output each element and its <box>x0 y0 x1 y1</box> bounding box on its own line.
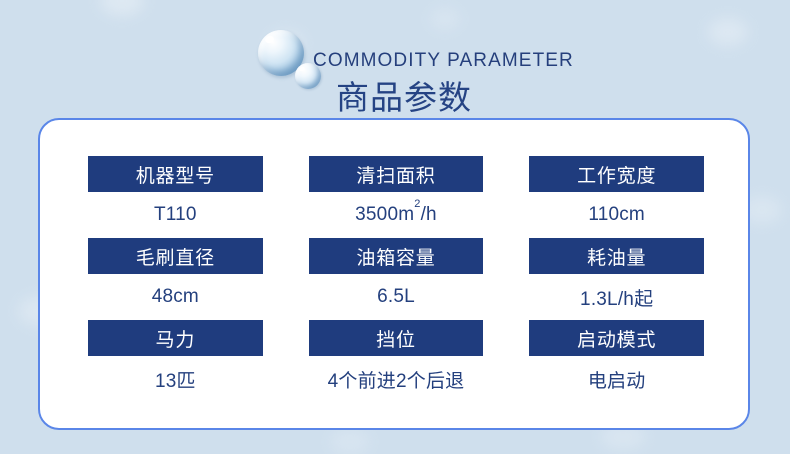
background-blob <box>330 430 370 454</box>
spec-cell: 耗油量 1.3L/h起 <box>529 238 704 320</box>
spec-label: 毛刷直径 <box>88 238 263 274</box>
spec-value: 3500m2/h <box>355 192 437 238</box>
spec-value: 110cm <box>588 192 645 238</box>
spec-cell: 马力 13匹 <box>88 320 263 402</box>
spec-cell: 机器型号 T110 <box>88 156 263 238</box>
spec-cell: 清扫面积 3500m2/h <box>309 156 484 238</box>
spec-label: 挡位 <box>309 320 484 356</box>
spec-cell: 启动模式 电启动 <box>529 320 704 402</box>
spec-value-base: 3500m <box>355 204 414 226</box>
spec-label: 机器型号 <box>88 156 263 192</box>
spec-value-tail: /h <box>421 204 437 226</box>
spec-value: 6.5L <box>377 274 415 320</box>
spec-grid: 机器型号 T110 清扫面积 3500m2/h 工作宽度 110cm 毛刷直径 … <box>88 156 704 402</box>
title-chinese: 商品参数 <box>336 71 472 119</box>
spec-label: 油箱容量 <box>309 238 484 274</box>
banner-header: COMMODITY PARAMETER 商品参数 <box>0 14 790 106</box>
spec-value: 48cm <box>152 274 199 320</box>
spec-label: 清扫面积 <box>309 156 484 192</box>
spec-label: 耗油量 <box>529 238 704 274</box>
product-parameter-banner: COMMODITY PARAMETER 商品参数 机器型号 T110 清扫面积 … <box>0 0 790 451</box>
spec-value: 电启动 <box>588 356 646 402</box>
spec-label: 马力 <box>88 320 263 356</box>
spec-value: 13匹 <box>155 356 196 402</box>
spec-value: T110 <box>154 192 197 238</box>
spec-value: 1.3L/h起 <box>580 274 653 320</box>
spec-label: 工作宽度 <box>529 156 704 192</box>
spec-cell: 油箱容量 6.5L <box>309 238 484 320</box>
title-english: COMMODITY PARAMETER <box>313 50 574 72</box>
spec-cell: 挡位 4个前进2个后退 <box>309 320 484 402</box>
spec-cell: 工作宽度 110cm <box>529 156 704 238</box>
spec-value: 4个前进2个后退 <box>328 356 465 402</box>
spec-cell: 毛刷直径 48cm <box>88 238 263 320</box>
spec-label: 启动模式 <box>529 320 704 356</box>
spec-card: 机器型号 T110 清扫面积 3500m2/h 工作宽度 110cm 毛刷直径 … <box>38 118 750 430</box>
